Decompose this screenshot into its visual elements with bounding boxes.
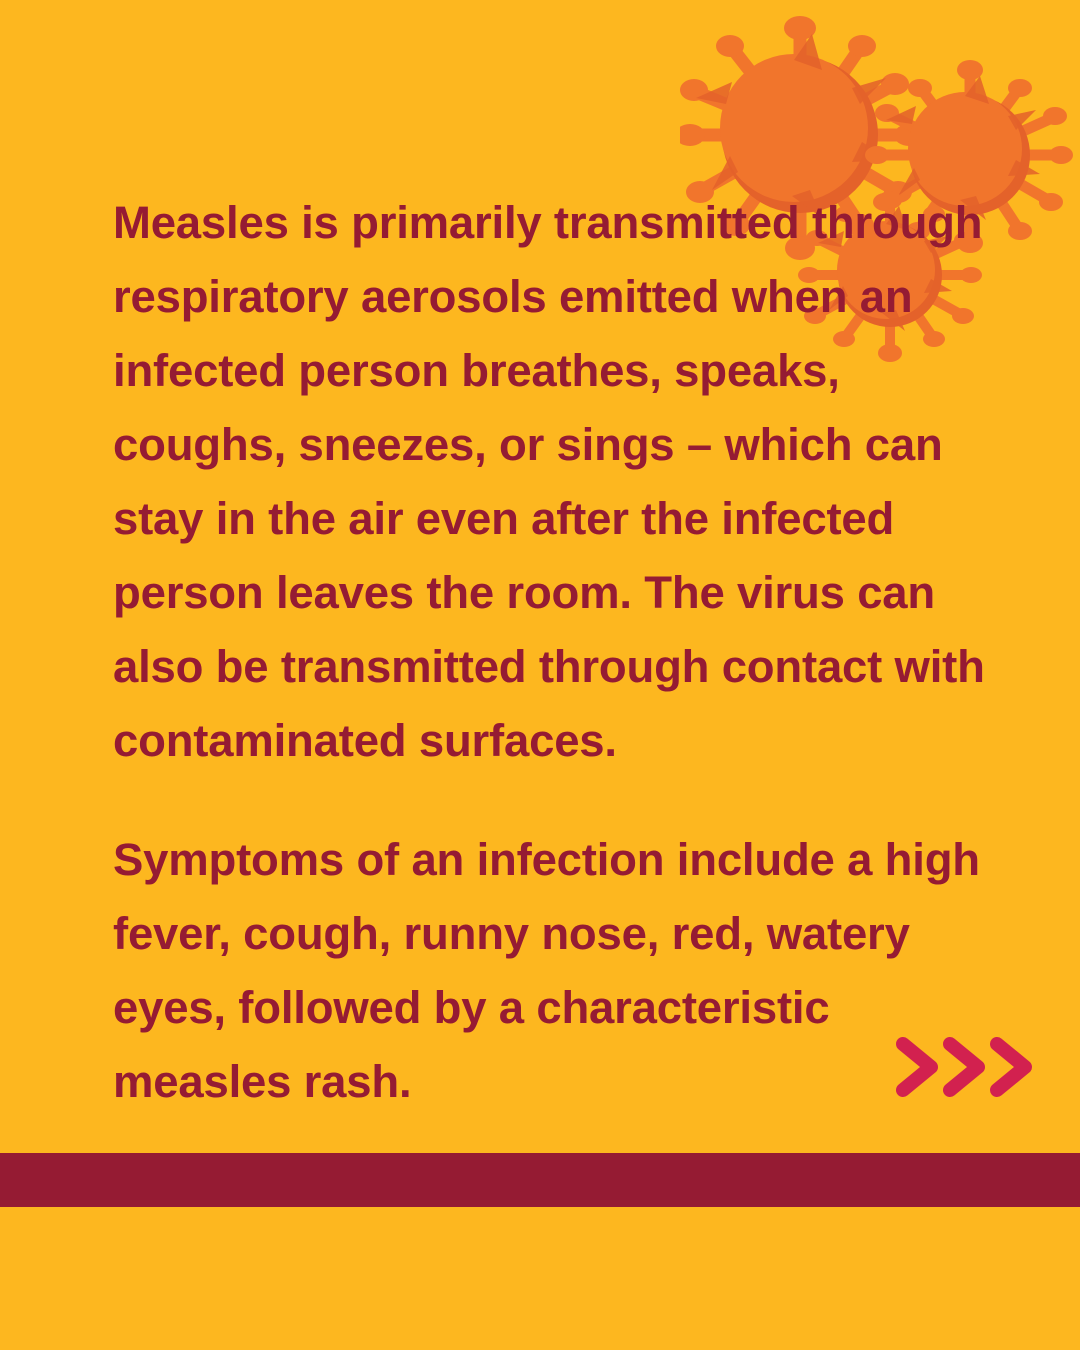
bottom-fill-area: [0, 1207, 1080, 1350]
chevron-right-icon-1: [903, 1044, 931, 1090]
next-chevrons[interactable]: [893, 1032, 1043, 1102]
measles-info-card: Measles is primarily transmitted through…: [0, 0, 1080, 1350]
chevron-right-icon-2: [950, 1044, 978, 1090]
body-copy: Measles is primarily transmitted through…: [113, 186, 993, 1119]
paragraph-symptoms: Symptoms of an infection include a high …: [113, 823, 993, 1119]
bottom-accent-band: [0, 1153, 1080, 1207]
chevron-right-icon-3: [997, 1044, 1025, 1090]
paragraph-transmission: Measles is primarily transmitted through…: [113, 186, 993, 778]
